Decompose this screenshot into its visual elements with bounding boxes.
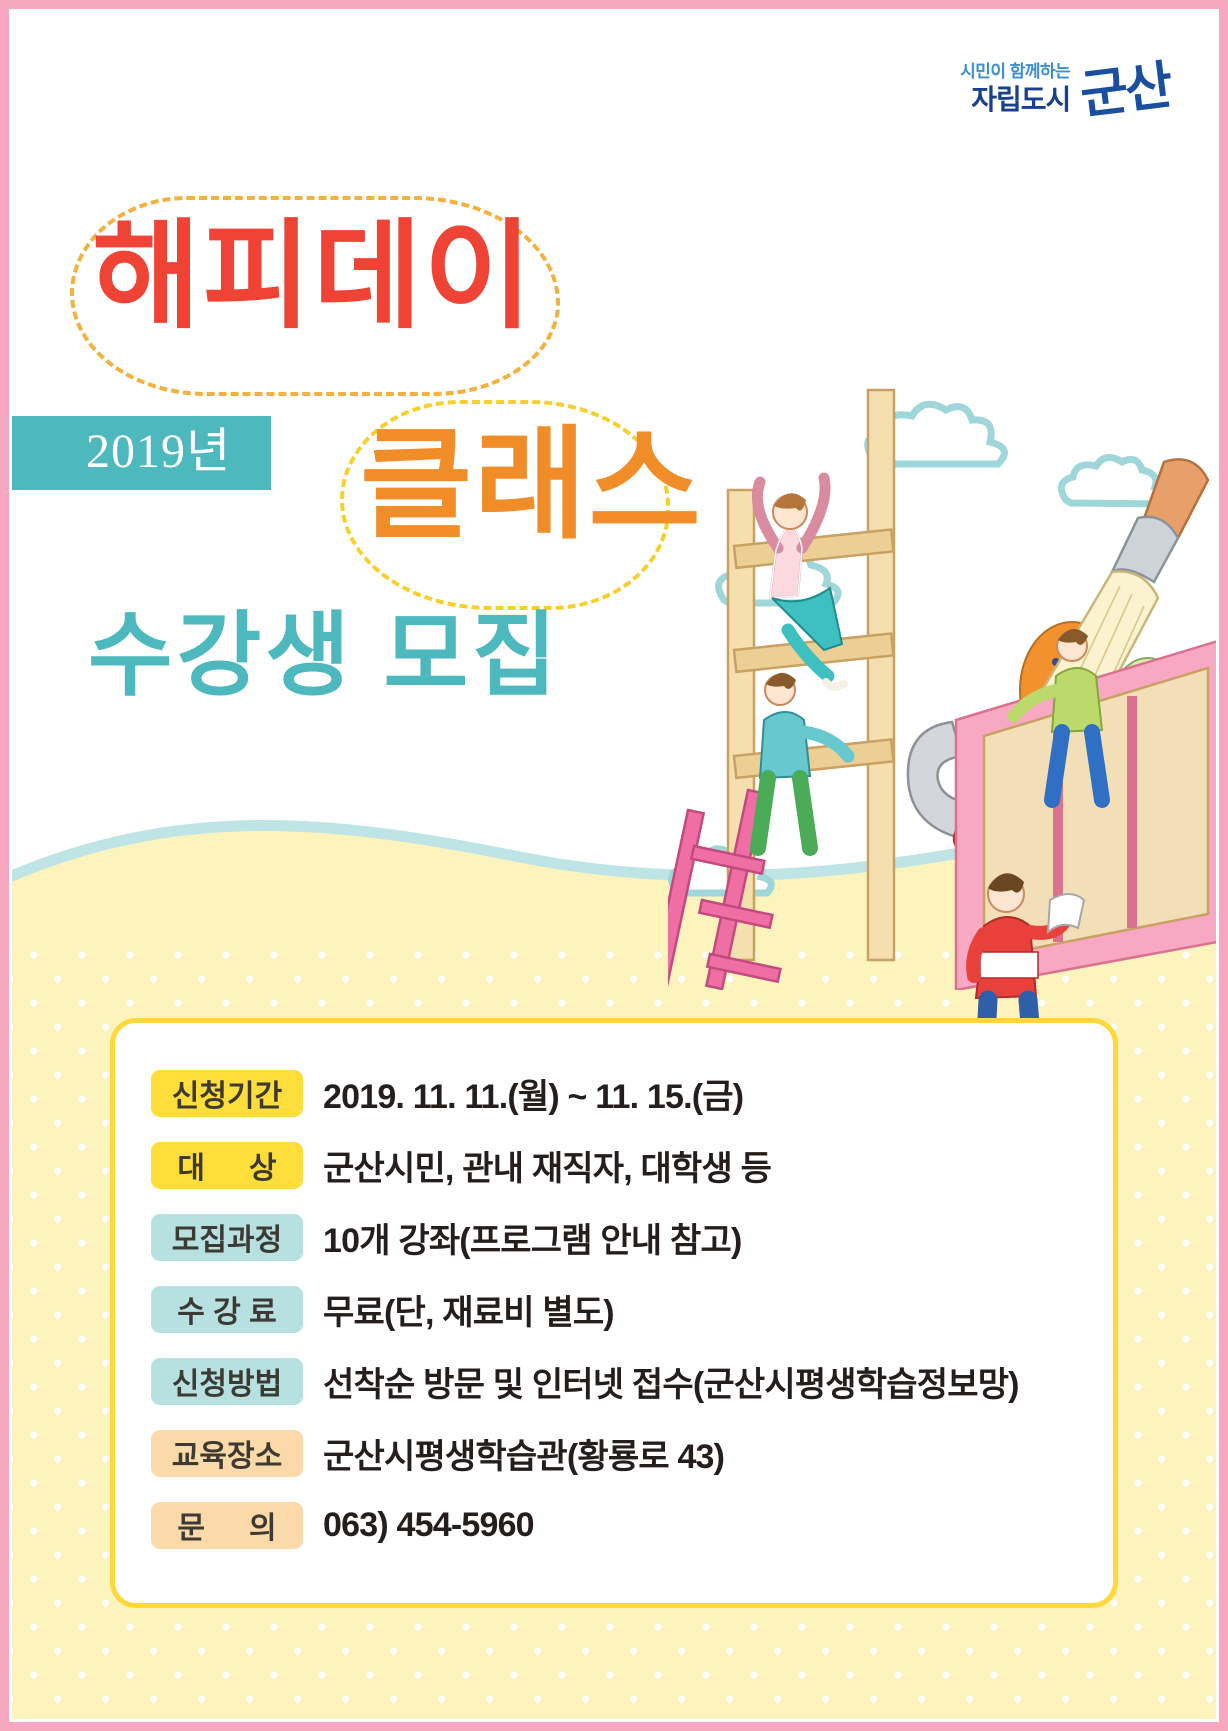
info-row: 수 강 료 무료(단, 재료비 별도) [151,1273,1113,1345]
info-label-application-period: 신청기간 [151,1070,303,1117]
title-recruit: 수강생 모집 [88,610,561,702]
info-label-inquiry-b: 의 [249,1503,277,1547]
wooden-ladder-frame [728,390,894,960]
logo-wordmark: 군산 [1078,61,1173,124]
info-value-target: 군산시민, 관내 재직자, 대학생 등 [323,1141,771,1190]
info-row: 모집과정 10개 강좌(프로그램 안내 참고) [151,1201,1113,1273]
gunsan-city-logo: 시민이 함께하는 자립도시 군산 [960,62,1170,114]
info-label-venue: 교육장소 [151,1430,303,1477]
info-value-fee: 무료(단, 재료비 별도) [323,1285,614,1334]
logo-tagline: 시민이 함께하는 [960,63,1070,80]
info-row: 신청방법 선착순 방문 및 인터넷 접수(군산시평생학습정보망) [151,1345,1113,1417]
info-label-fee: 수 강 료 [151,1286,303,1333]
poster-root: 시민이 함께하는 자립도시 군산 해피데이 2019년 클래스 수강생 모집 신… [0,0,1228,1731]
info-label-courses: 모집과정 [151,1214,303,1261]
info-label-target-b: 상 [249,1143,277,1187]
info-value-inquiry: 063) 454-5960 [323,1506,534,1545]
title-class: 클래스 [360,424,703,546]
title-happyday: 해피데이 [92,218,534,336]
title-year-badge: 2019년 [0,416,271,490]
info-value-how-to-apply: 선착순 방문 및 인터넷 접수(군산시평생학습정보망) [323,1357,1019,1406]
info-value-application-period: 2019. 11. 11.(월) ~ 11. 15.(금) [323,1069,743,1118]
info-row: 대 상 군산시민, 관내 재직자, 대학생 등 [151,1129,1113,1201]
info-label-target: 대 상 [151,1142,303,1189]
info-card: 신청기간 2019. 11. 11.(월) ~ 11. 15.(금) 대 상 군… [110,1018,1118,1608]
info-row: 문 의 063) 454-5960 [151,1489,1113,1561]
info-label-how-to-apply: 신청방법 [151,1358,303,1405]
info-value-courses: 10개 강좌(프로그램 안내 참고) [323,1213,741,1262]
info-row: 신청기간 2019. 11. 11.(월) ~ 11. 15.(금) [151,1057,1113,1129]
info-label-target-a: 대 [177,1143,205,1187]
diy-woodworking-illustration [668,250,1228,990]
title-block: 해피데이 2019년 클래스 수강생 모집 [0,0,700,780]
info-label-inquiry: 문 의 [151,1502,303,1549]
info-label-inquiry-a: 문 [177,1503,205,1547]
info-row: 교육장소 군산시평생학습관(황룡로 43) [151,1417,1113,1489]
logo-subtitle: 자립도시 [960,86,1070,114]
info-value-venue: 군산시평생학습관(황룡로 43) [323,1429,724,1478]
